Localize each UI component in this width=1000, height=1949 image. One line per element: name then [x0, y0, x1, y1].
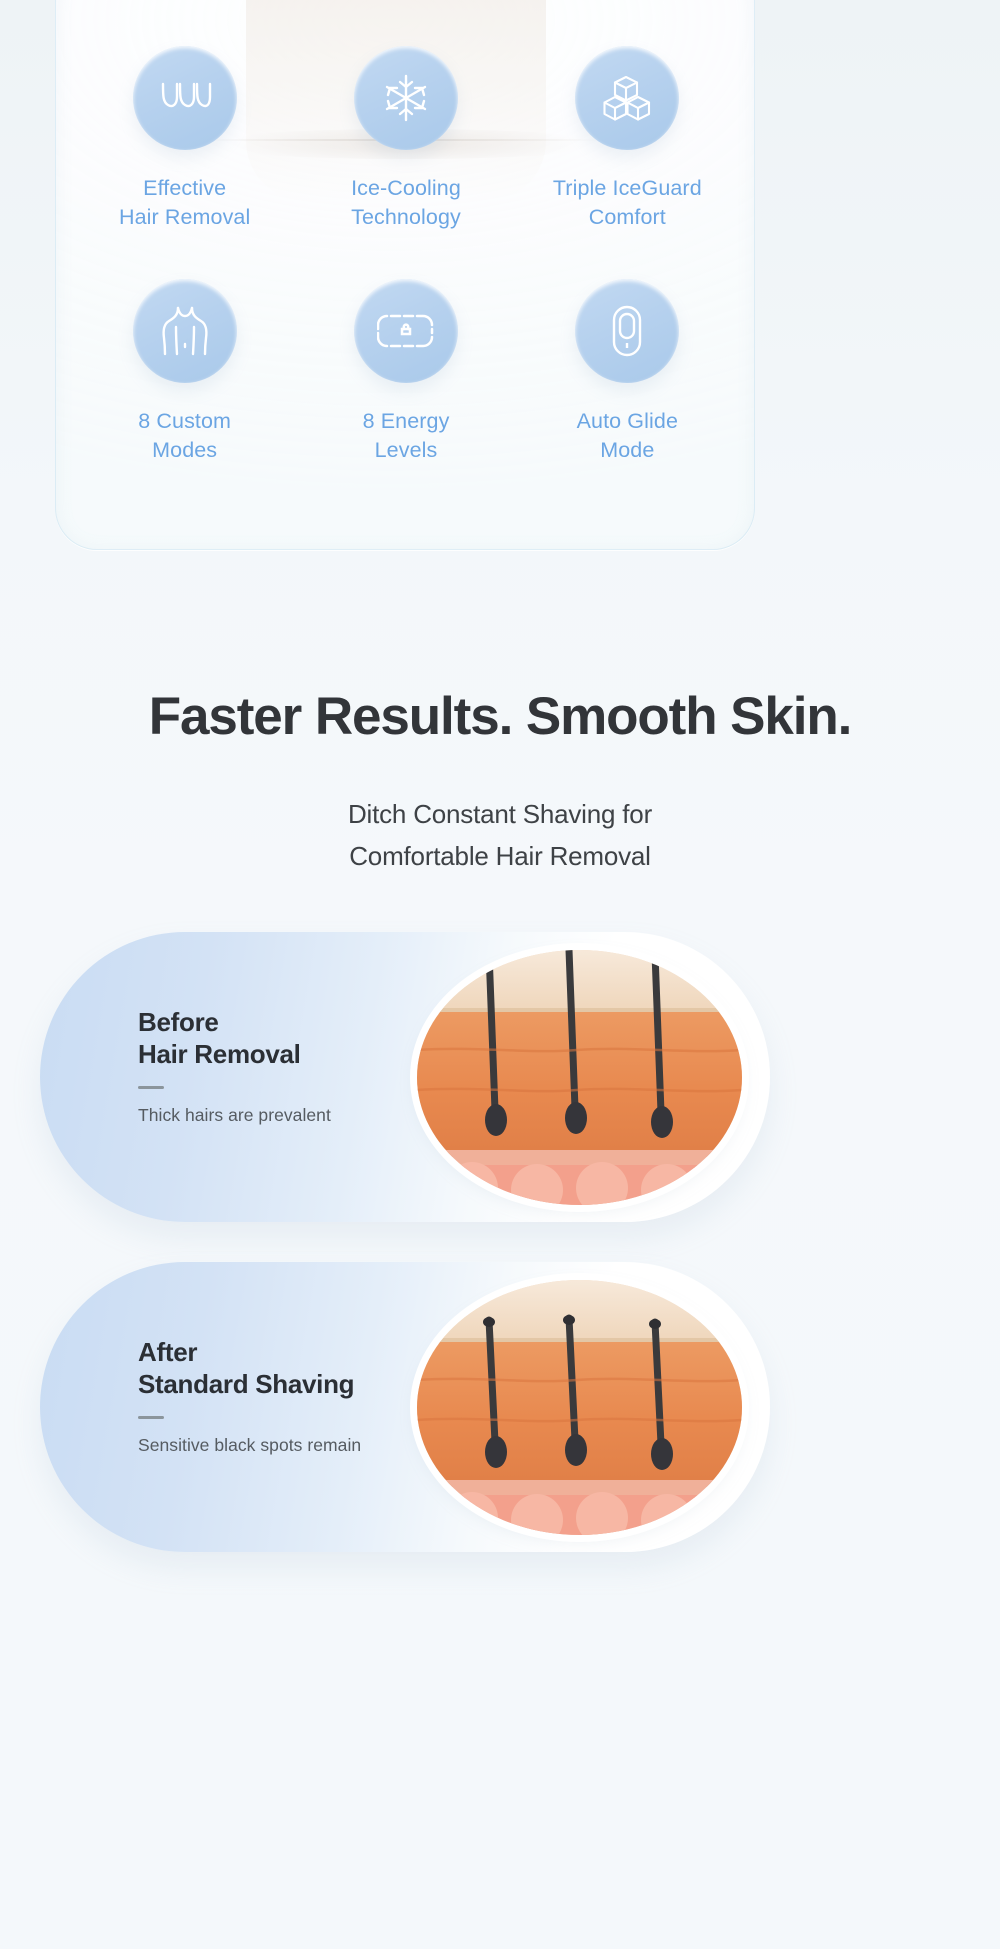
glide-device-icon: [612, 305, 642, 357]
feature-label: Auto Glide Mode: [577, 407, 678, 465]
title-divider: [138, 1086, 164, 1089]
features-card: Effective Hair Removal: [55, 0, 755, 550]
comparison-caption: Sensitive black spots remain: [138, 1433, 428, 1457]
feature-label: 8 Energy Levels: [363, 407, 450, 465]
page-headline: Faster Results. Smooth Skin.: [0, 686, 1000, 748]
skin-cross-section-black-spots-icon: [417, 1280, 742, 1535]
feature-badge: [575, 279, 679, 383]
feature-badge: [575, 46, 679, 150]
comparison-text-block: Before Hair Removal Thick hairs are prev…: [138, 1006, 428, 1127]
feature-badge: [133, 46, 237, 150]
feature-badge: [354, 279, 458, 383]
body-torso-icon: [160, 305, 210, 357]
feature-badge: [133, 279, 237, 383]
feature-energy-levels[interactable]: 8 Energy Levels: [295, 279, 516, 512]
comparison-card-after[interactable]: After Standard Shaving Sensitive black s…: [40, 1262, 770, 1552]
energy-level-icon: [377, 314, 435, 348]
skin-illustration-before: [417, 950, 742, 1205]
comparison-title: After Standard Shaving: [138, 1336, 428, 1400]
feature-label: 8 Custom Modes: [138, 407, 231, 465]
page-subheadline: Ditch Constant Shaving for Comfortable H…: [0, 793, 1000, 877]
ice-cubes-icon: [602, 73, 652, 123]
feature-auto-glide[interactable]: Auto Glide Mode: [517, 279, 738, 512]
feature-custom-modes[interactable]: 8 Custom Modes: [74, 279, 295, 512]
feature-triple-iceguard[interactable]: Triple IceGuard Comfort: [517, 46, 738, 279]
comparison-title: Before Hair Removal: [138, 1006, 428, 1070]
feature-ice-cooling[interactable]: Ice-Cooling Technology: [295, 46, 516, 279]
feature-label: Effective Hair Removal: [119, 174, 250, 232]
skin-illustration-after: [417, 1280, 742, 1535]
title-divider: [138, 1416, 164, 1419]
comparison-card-before[interactable]: Before Hair Removal Thick hairs are prev…: [40, 932, 770, 1222]
comparison-text-block: After Standard Shaving Sensitive black s…: [138, 1336, 428, 1457]
feature-badge: [354, 46, 458, 150]
hair-follicle-icon: [158, 81, 212, 115]
skin-cross-section-thick-hair-icon: [417, 950, 742, 1205]
feature-grid: Effective Hair Removal: [56, 0, 755, 550]
snowflake-icon: [381, 73, 431, 123]
product-feature-page: Effective Hair Removal: [0, 0, 1000, 1949]
comparison-caption: Thick hairs are prevalent: [138, 1103, 428, 1127]
feature-effective-hair-removal[interactable]: Effective Hair Removal: [74, 46, 295, 279]
feature-label: Ice-Cooling Technology: [351, 174, 461, 232]
feature-label: Triple IceGuard Comfort: [553, 174, 702, 232]
